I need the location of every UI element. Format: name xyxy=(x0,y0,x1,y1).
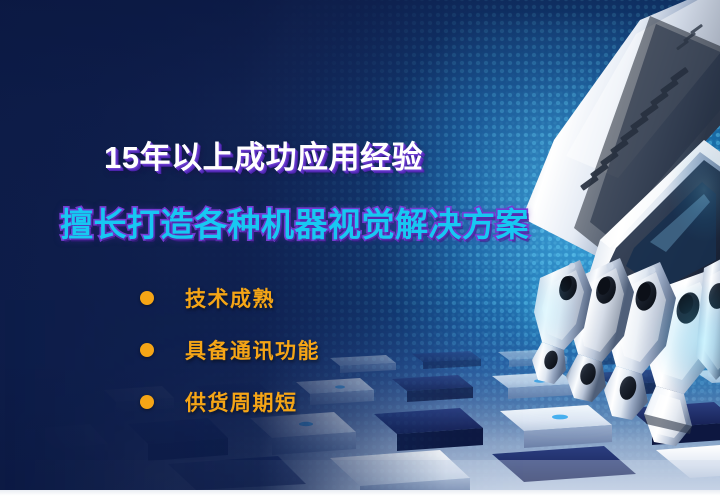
feature-bullet-list: 技术成熟 具备通讯功能 供货周期短 xyxy=(140,272,470,428)
headline-secondary: 擅长打造各种机器视觉解决方案 xyxy=(60,198,529,246)
bullet-label: 具备通讯功能 xyxy=(185,335,320,365)
bottom-strip xyxy=(0,490,720,500)
list-item: 具备通讯功能 xyxy=(140,324,470,376)
headline-primary: 15年以上成功应用经验 xyxy=(104,132,423,177)
bullet-dot-icon xyxy=(140,291,154,305)
marketing-banner: 15年以上成功应用经验 擅长打造各种机器视觉解决方案 技术成熟 具备通讯功能 供… xyxy=(0,0,720,500)
list-item: 供货周期短 xyxy=(140,376,470,428)
list-item: 技术成熟 xyxy=(140,272,470,324)
bullet-dot-icon xyxy=(140,343,154,357)
robot-hand-flare-secondary xyxy=(510,266,578,354)
bullet-label: 供货周期短 xyxy=(185,387,298,417)
bullet-label: 技术成熟 xyxy=(185,283,275,313)
bullet-dot-icon xyxy=(140,395,154,409)
